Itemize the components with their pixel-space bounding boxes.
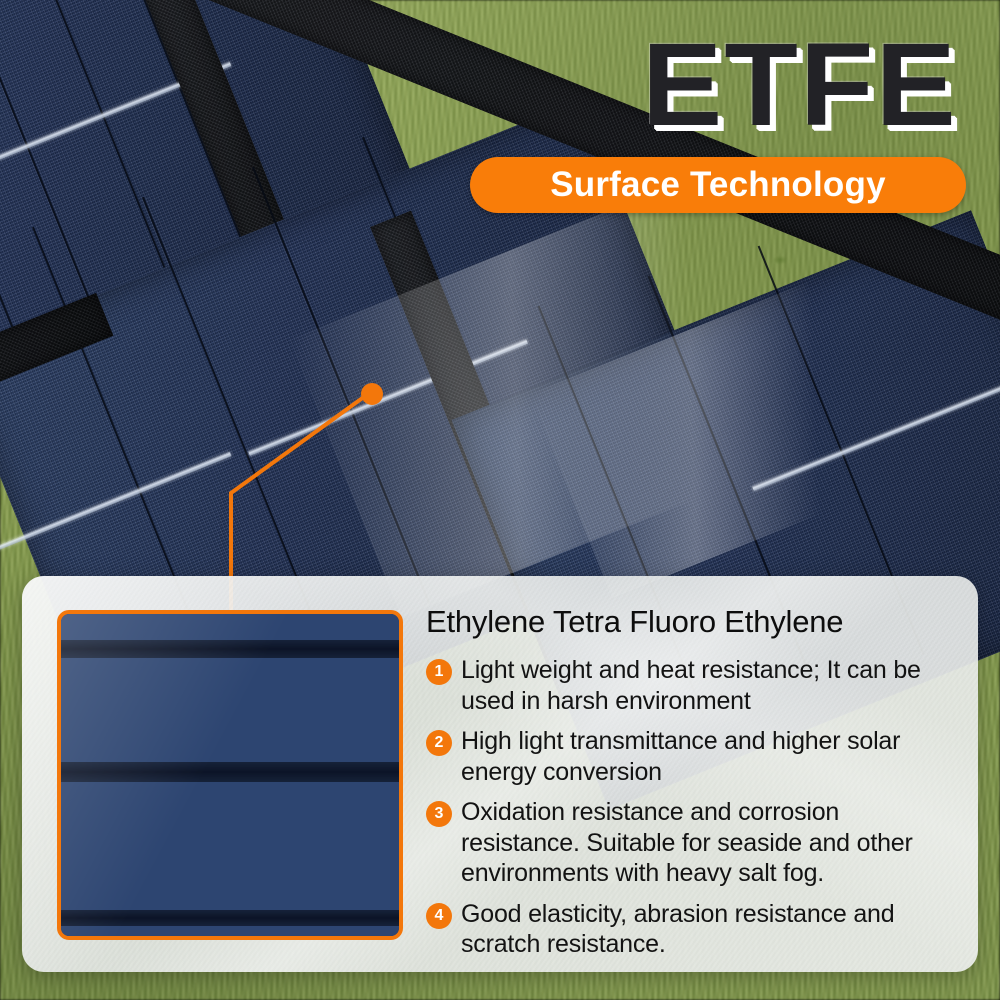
subtitle-badge: Surface Technology (470, 157, 966, 213)
page-title: ETFE (642, 26, 958, 144)
product-feature-image: ETFE Surface Technology Ethylene Tetra F… (0, 0, 1000, 1000)
info-panel: Ethylene Tetra Fluoro Ethylene 1 Light w… (22, 576, 978, 972)
bullet-text: Light weight and heat resistance; It can… (461, 655, 956, 716)
bullet-number-badge: 4 (426, 903, 452, 929)
bullet-text: High light transmittance and higher sola… (461, 726, 956, 787)
list-item: 3 Oxidation resistance and corrosion res… (426, 797, 956, 889)
bullet-text: Oxidation resistance and corrosion resis… (461, 797, 956, 889)
macro-inset-photo (57, 610, 403, 940)
info-panel-title: Ethylene Tetra Fluoro Ethylene (426, 604, 956, 640)
macro-gloss (61, 614, 399, 936)
list-item: 1 Light weight and heat resistance; It c… (426, 655, 956, 716)
bullet-number-badge: 3 (426, 801, 452, 827)
bullet-number-badge: 1 (426, 659, 452, 685)
bullet-number-badge: 2 (426, 730, 452, 756)
list-item: 4 Good elasticity, abrasion resistance a… (426, 899, 956, 960)
info-content: Ethylene Tetra Fluoro Ethylene 1 Light w… (426, 604, 956, 970)
subtitle-label: Surface Technology (550, 165, 886, 205)
list-item: 2 High light transmittance and higher so… (426, 726, 956, 787)
bullet-text: Good elasticity, abrasion resistance and… (461, 899, 956, 960)
